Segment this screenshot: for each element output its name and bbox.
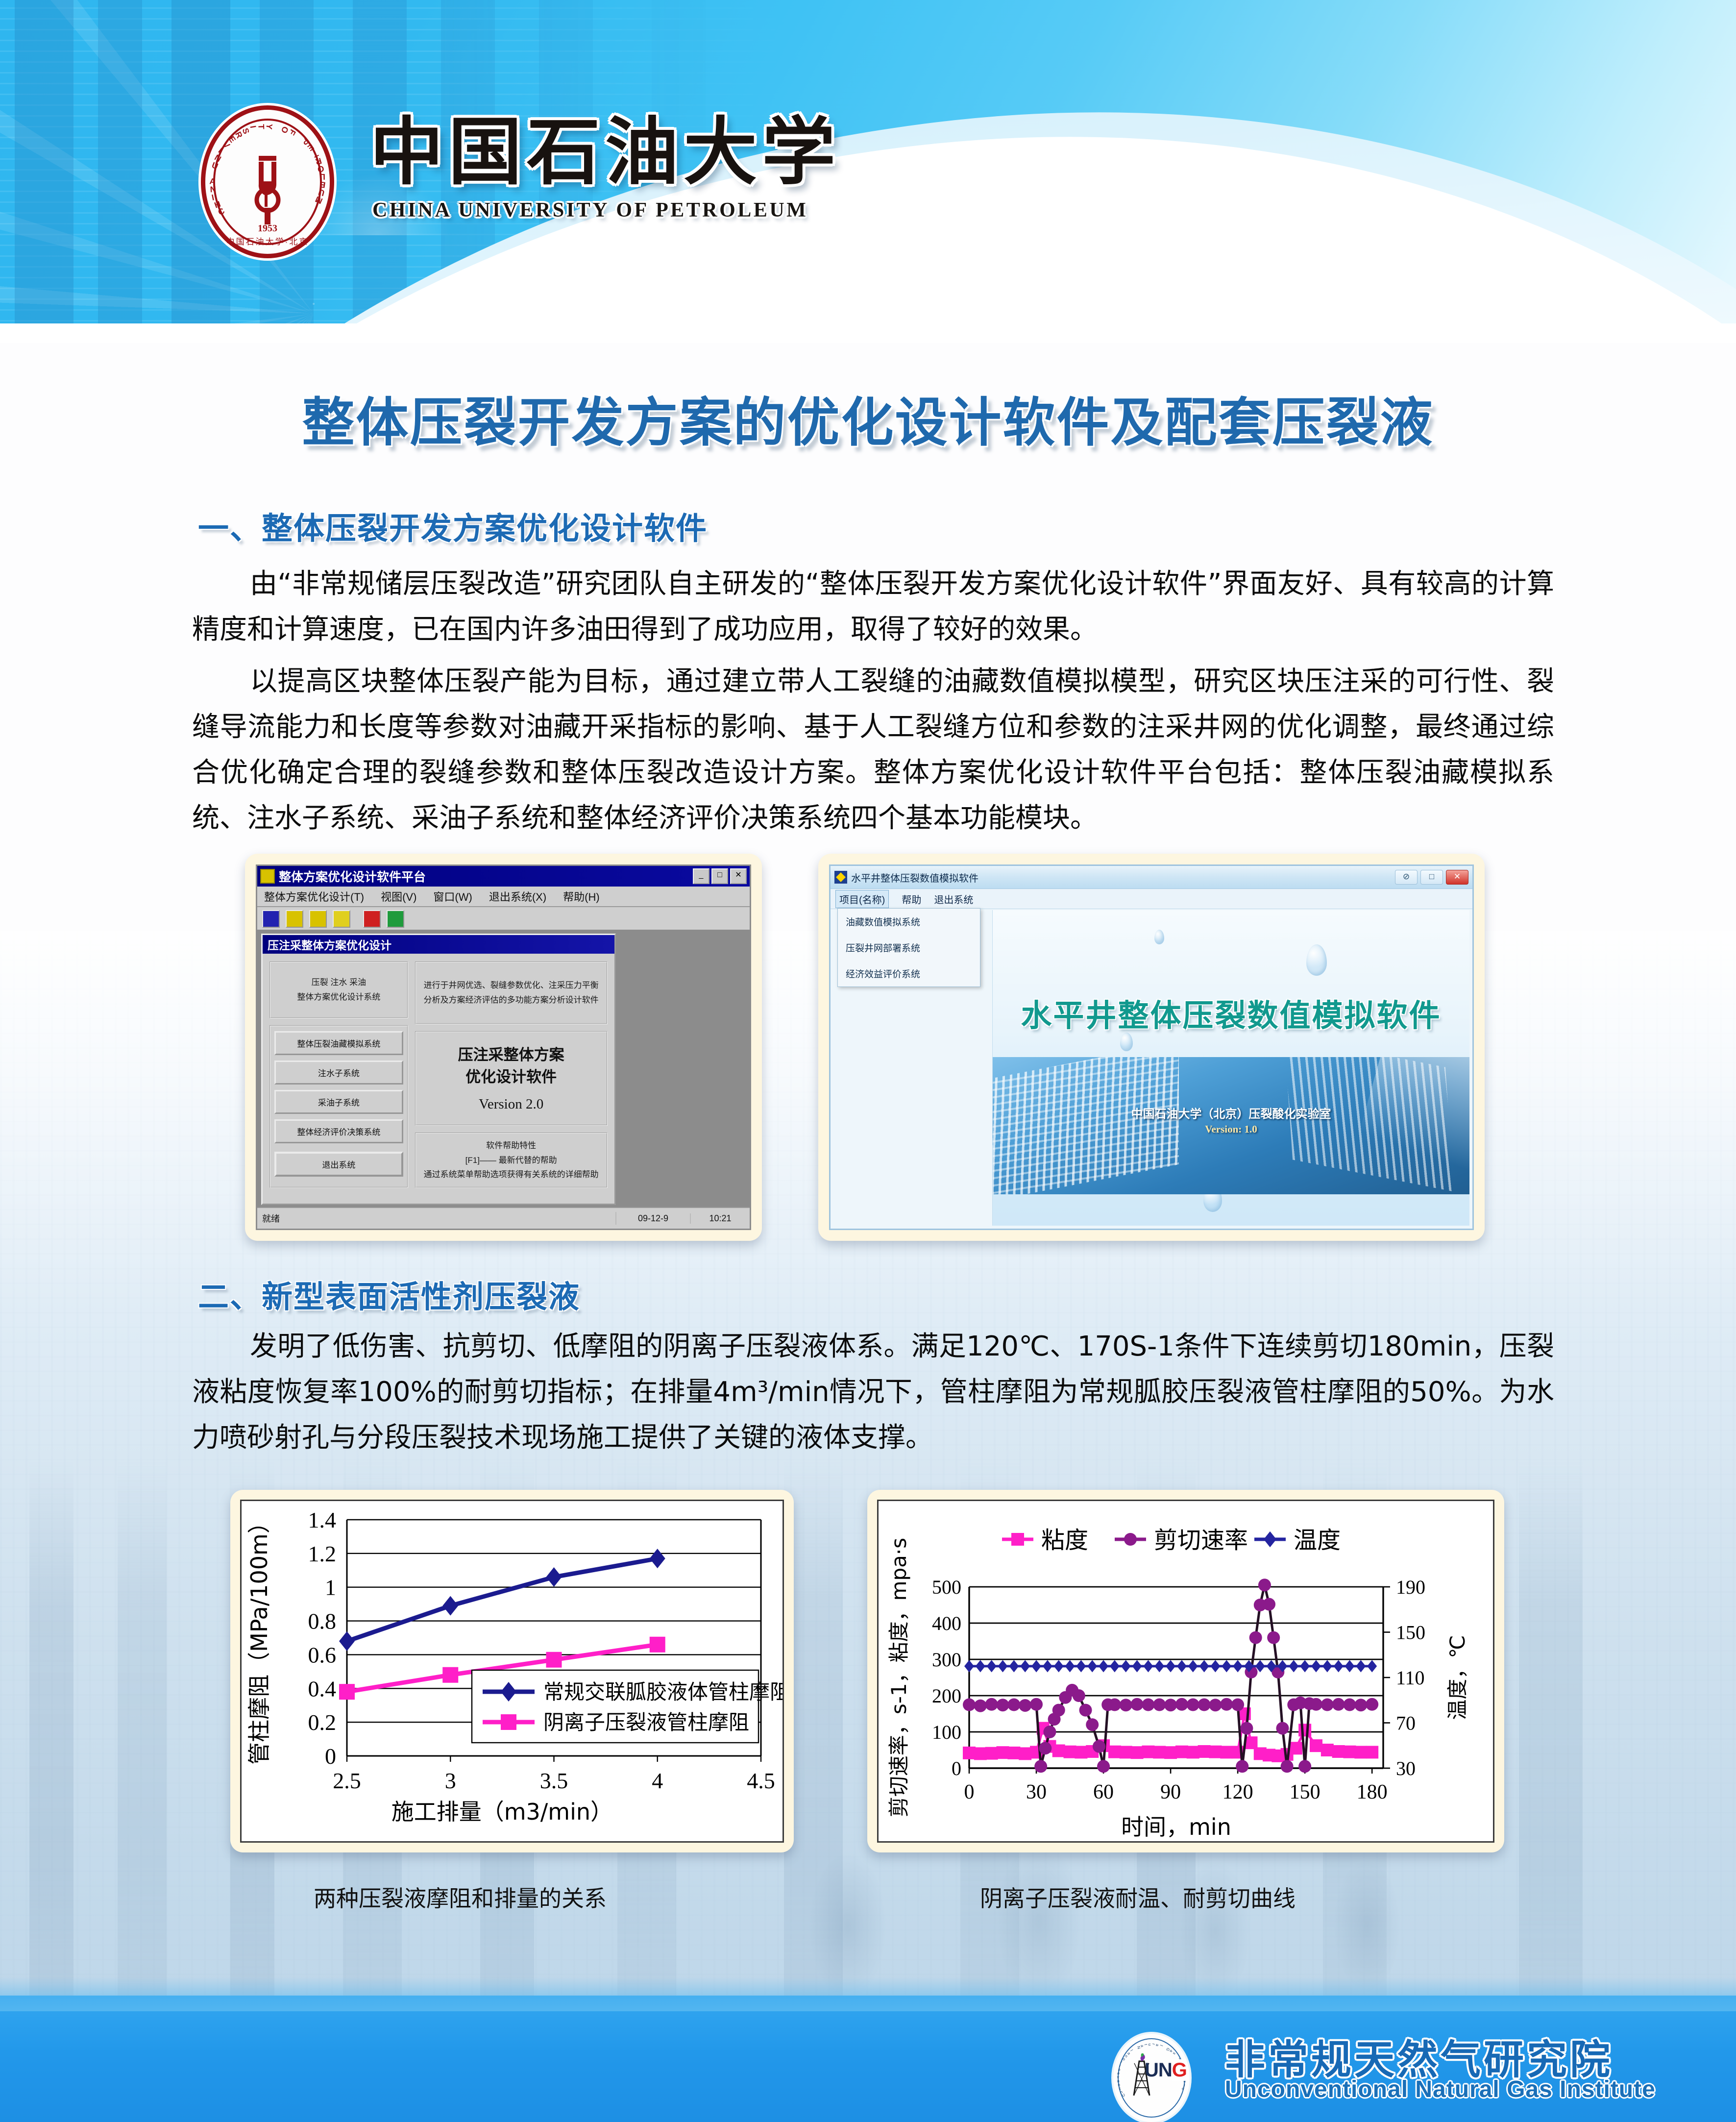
right-info-line2: 分析及方案经济评估的多功能方案分析设计软件	[420, 993, 603, 1008]
screenshot-1-titlebar: 整体方案优化设计软件平台 _ □ ✕	[257, 866, 750, 887]
menu-item-project[interactable]: 项目(名称)	[835, 890, 889, 908]
screenshot-1-window: 整体方案优化设计软件平台 _ □ ✕ 整体方案优化设计(T) 视图(V) 窗口(…	[256, 864, 751, 1230]
chart-2-frame: 粘度剪切速率温度01002003004005003070110150190030…	[867, 1490, 1504, 1852]
header-bottom-fill	[0, 323, 1736, 343]
chart-2-canvas: 粘度剪切速率温度01002003004005003070110150190030…	[877, 1500, 1494, 1843]
module-button-group: 整体压裂油藏模拟系统 注水子系统 采油子系统 整体经济评价决策系统 退出系统	[269, 1025, 408, 1188]
maximize-icon[interactable]: □	[711, 868, 728, 884]
svg-text:施工排量（m3/min）: 施工排量（m3/min）	[391, 1799, 613, 1825]
svg-text:100: 100	[932, 1721, 961, 1743]
header-banner: CHINA UNIVERSITY OF PETROLEUM 1953 中国石油大…	[0, 0, 1736, 343]
screenshot-2-window: 水平井整体压裂数值模拟软件 ⊘ □ ✕ 项目(名称) 帮助 退出系统 油藏数值模…	[829, 864, 1474, 1230]
toolbar-gear-icon[interactable]	[333, 910, 350, 928]
svg-text:3.5: 3.5	[540, 1768, 568, 1793]
svg-text:温度，℃: 温度，℃	[1445, 1635, 1469, 1720]
svg-text:剪切速率，s-1，粘度，mpa·s: 剪切速率，s-1，粘度，mpa·s	[887, 1538, 911, 1817]
button-economic-eval[interactable]: 整体经济评价决策系统	[274, 1119, 403, 1143]
svg-text:1.2: 1.2	[308, 1541, 337, 1566]
help-line-3: 通过系统菜单帮助选项获得有关系统的详细帮助	[420, 1167, 603, 1182]
minimize-icon[interactable]: ⊘	[1395, 870, 1418, 885]
dropdown-item-reservoir-sim[interactable]: 油藏数值模拟系统	[838, 909, 980, 935]
university-name-en: CHINA UNIVERSITY OF PETROLEUM	[372, 198, 808, 222]
crest-emblem-icon	[244, 153, 291, 226]
menu-item-help[interactable]: 帮助	[902, 892, 921, 906]
section-heading-1: 一、整体压裂开发方案优化设计软件	[198, 504, 708, 548]
screenshot-2-title-text: 水平井整体压裂数值模拟软件	[851, 870, 978, 885]
menu-item-view[interactable]: 视图(V)	[381, 888, 416, 904]
screenshot-1-mdi-area: 压注采整体方案优化设计 压裂 注水 采油 整体方案优化设计系统 整体压裂油藏模拟…	[257, 930, 750, 1207]
university-name-cn: 中国石油大学	[370, 115, 840, 189]
footer-top-glow	[0, 1977, 1736, 2011]
chart-2-svg: 粘度剪切速率温度01002003004005003070110150190030…	[879, 1501, 1493, 1841]
right-info-group: 进行于井网优选、裂缝参数优化、注采压力平衡 分析及方案经济评估的多功能方案分析设…	[415, 962, 608, 1024]
svg-text:150: 150	[1396, 1622, 1425, 1644]
right-column: 进行于井网优选、裂缝参数优化、注采压力平衡 分析及方案经济评估的多功能方案分析设…	[415, 962, 608, 1188]
brand-group: 压注采整体方案 优化设计软件 Version 2.0	[415, 1031, 608, 1126]
screenshot-1-title-text: 整体方案优化设计软件平台	[279, 867, 426, 885]
child-window-title: 压注采整体方案优化设计	[263, 935, 614, 954]
svg-text:管柱摩阻（MPa/100m）: 管柱摩阻（MPa/100m）	[246, 1511, 272, 1765]
svg-text:2.5: 2.5	[333, 1768, 361, 1793]
crest-chinese-text: 中国石油大学·北京	[205, 235, 330, 247]
svg-text:300: 300	[932, 1649, 961, 1671]
svg-text:剪切速率: 剪切速率	[1154, 1527, 1248, 1554]
svg-text:110: 110	[1396, 1667, 1425, 1689]
button-exit-system[interactable]: 退出系统	[274, 1152, 403, 1177]
svg-text:4.5: 4.5	[747, 1768, 775, 1793]
menu-item-window[interactable]: 窗口(W)	[433, 888, 472, 904]
brand-line-2: 优化设计软件	[420, 1066, 603, 1088]
chart-2-caption: 阴离子压裂液耐温、耐剪切曲线	[980, 1881, 1296, 1913]
project-dropdown-menu[interactable]: 油藏数值模拟系统 压裂井网部署系统 经济效益评价系统	[837, 908, 980, 987]
svg-text:30: 30	[1026, 1781, 1047, 1803]
child-window-content: 压裂 注水 采油 整体方案优化设计系统 整体压裂油藏模拟系统 注水子系统 采油子…	[263, 954, 614, 1196]
status-date: 09-12-9	[616, 1213, 691, 1224]
screenshot-2-frame: 水平井整体压裂数值模拟软件 ⊘ □ ✕ 项目(名称) 帮助 退出系统 油藏数值模…	[818, 854, 1485, 1241]
toolbar-open-icon[interactable]	[262, 910, 280, 928]
svg-text:70: 70	[1396, 1712, 1416, 1734]
screenshot-1-frame: 整体方案优化设计软件平台 _ □ ✕ 整体方案优化设计(T) 视图(V) 窗口(…	[245, 854, 762, 1241]
dropdown-item-well-pattern[interactable]: 压裂井网部署系统	[838, 935, 980, 961]
svg-text:150: 150	[1290, 1781, 1320, 1803]
close-icon[interactable]: ✕	[1446, 870, 1468, 885]
menu-item-exit[interactable]: 退出系统	[934, 892, 973, 906]
close-icon[interactable]: ✕	[730, 868, 747, 884]
software-version: Version 2.0	[420, 1096, 603, 1112]
left-column: 压裂 注水 采油 整体方案优化设计系统 整体压裂油藏模拟系统 注水子系统 采油子…	[269, 962, 408, 1188]
app-icon	[260, 869, 275, 884]
svg-text:时间，min: 时间，min	[1121, 1814, 1231, 1840]
brand-line-1: 压注采整体方案	[420, 1044, 603, 1066]
screenshot-1-window-controls: _ □ ✕	[693, 868, 747, 884]
water-drop-icon	[1306, 944, 1327, 976]
chart-1-frame: 00.20.40.60.811.21.42.533.544.5施工排量（m3/m…	[230, 1490, 794, 1852]
svg-text:30: 30	[1396, 1757, 1416, 1779]
svg-text:0.2: 0.2	[308, 1710, 337, 1735]
svg-text:500: 500	[932, 1576, 961, 1598]
svg-text:0.6: 0.6	[308, 1642, 337, 1667]
toolbar-info-icon[interactable]	[286, 910, 303, 928]
app-icon	[834, 871, 847, 884]
screenshot-1-statusbar: 就绪 09-12-9 10:21	[257, 1207, 750, 1229]
help-group: 软件帮助特性 [F1]—— 最新代替的帮助 通过系统菜单帮助选项获得有关系统的详…	[415, 1133, 608, 1188]
chart-1-caption: 两种压裂液摩阻和排量的关系	[314, 1881, 607, 1913]
screenshot-1-menubar: 整体方案优化设计(T) 视图(V) 窗口(W) 退出系统(X) 帮助(H)	[257, 887, 750, 907]
water-drop-icon	[1154, 930, 1164, 944]
left-info-group: 压裂 注水 采油 整体方案优化设计系统	[269, 962, 408, 1018]
svg-text:190: 190	[1396, 1576, 1425, 1598]
svg-text:120: 120	[1223, 1781, 1253, 1803]
university-crest: CHINA UNIVERSITY OF PETROLEUM 1953 中国石油大…	[201, 105, 334, 258]
screenshot-1-child-window: 压注采整体方案优化设计 压裂 注水 采油 整体方案优化设计系统 整体压裂油藏模拟…	[261, 934, 616, 1205]
toolbar-book-icon[interactable]	[309, 910, 327, 928]
svg-text:0: 0	[325, 1744, 336, 1769]
ung-logo: Unconventional Natural Gas Institute UNG	[1111, 2032, 1192, 2122]
splash-heading: 水平井整体压裂数值模拟软件	[993, 991, 1469, 1036]
maximize-icon[interactable]: □	[1420, 870, 1443, 885]
toolbar-run-icon[interactable]	[387, 910, 404, 928]
svg-text:400: 400	[932, 1612, 961, 1634]
button-reservoir-sim[interactable]: 整体压裂油藏模拟系统	[274, 1031, 403, 1055]
menu-item-help[interactable]: 帮助(H)	[563, 888, 600, 904]
svg-text:温度: 温度	[1294, 1527, 1341, 1554]
svg-text:180: 180	[1357, 1781, 1388, 1803]
chart-1-canvas: 00.20.40.60.811.21.42.533.544.5施工排量（m3/m…	[240, 1500, 784, 1843]
svg-text:粘度: 粘度	[1041, 1527, 1088, 1554]
toolbar-stop-icon[interactable]	[363, 910, 381, 928]
svg-text:0.4: 0.4	[308, 1676, 337, 1701]
status-time: 10:21	[691, 1213, 750, 1224]
screenshot-2-splash-canvas: 水平井整体压裂数值模拟软件 中国石油大学（北京）压裂酸化实验室 Version:…	[992, 910, 1469, 1226]
svg-text:常规交联胍胶液体管柱摩阻: 常规交联胍胶液体管柱摩阻	[543, 1680, 782, 1704]
right-info-line1: 进行于井网优选、裂缝参数优化、注采压力平衡	[420, 978, 603, 993]
institute-name-en: Unconventional Natural Gas Institute	[1225, 2076, 1656, 2103]
svg-text:0.8: 0.8	[308, 1609, 337, 1634]
screenshot-2-window-controls: ⊘ □ ✕	[1395, 870, 1468, 885]
chart-1-svg: 00.20.40.60.811.21.42.533.544.5施工排量（m3/m…	[242, 1501, 782, 1841]
left-info-line1: 压裂 注水 采油	[274, 975, 403, 990]
svg-text:1.4: 1.4	[308, 1507, 337, 1532]
svg-text:4: 4	[652, 1768, 663, 1793]
svg-text:0: 0	[964, 1781, 975, 1803]
svg-text:60: 60	[1093, 1781, 1114, 1803]
button-oil-production[interactable]: 采油子系统	[274, 1090, 403, 1114]
photo-caption: 中国石油大学（北京）压裂酸化实验室	[993, 1104, 1469, 1121]
dropdown-item-economic-eval[interactable]: 经济效益评价系统	[838, 961, 980, 987]
svg-text:200: 200	[932, 1685, 961, 1707]
screenshot-2-titlebar: 水平井整体压裂数值模拟软件 ⊘ □ ✕	[831, 866, 1472, 889]
poster-root: CHINA UNIVERSITY OF PETROLEUM 1953 中国石油大…	[0, 0, 1736, 2122]
button-waterflood[interactable]: 注水子系统	[274, 1061, 403, 1085]
svg-text:90: 90	[1160, 1781, 1181, 1803]
svg-text:阴离子压裂液管柱摩阻: 阴离子压裂液管柱摩阻	[543, 1710, 749, 1734]
screenshot-1-toolbar	[257, 907, 750, 932]
status-ready: 就绪	[257, 1212, 616, 1225]
ung-wordmark: UNG	[1145, 2059, 1187, 2081]
screenshot-2-menubar: 项目(名称) 帮助 退出系统	[831, 889, 1472, 909]
section-2-paragraph-1: 发明了低伤害、抗剪切、低摩阻的阴离子压裂液体系。满足120℃、170S-1条件下…	[192, 1324, 1554, 1461]
left-info-line2: 整体方案优化设计系统	[274, 990, 403, 1005]
section-heading-2: 二、新型表面活性剂压裂液	[198, 1272, 580, 1317]
photo-version: Version: 1.0	[993, 1123, 1469, 1135]
section-1-paragraph-2: 以提高区块整体压裂产能为目标，通过建立带人工裂缝的油藏数值模拟模型，研究区块压注…	[192, 659, 1554, 841]
poster-title: 整体压裂开发方案的优化设计软件及配套压裂液	[0, 380, 1736, 456]
svg-text:3: 3	[445, 1768, 456, 1793]
svg-text:1: 1	[325, 1575, 336, 1600]
help-line-1: 软件帮助特性	[420, 1138, 603, 1153]
svg-text:0: 0	[952, 1757, 961, 1779]
section-1-paragraph-1: 由“非常规储层压裂改造”研究团队自主研发的“整体压裂开发方案优化设计软件”界面友…	[192, 562, 1554, 653]
menu-item-design[interactable]: 整体方案优化设计(T)	[264, 888, 364, 904]
crest-year: 1953	[205, 223, 330, 234]
lab-building-photo: 中国石油大学（北京）压裂酸化实验室 Version: 1.0	[993, 1057, 1469, 1194]
menu-item-exit[interactable]: 退出系统(X)	[489, 888, 546, 904]
minimize-icon[interactable]: _	[693, 868, 709, 884]
help-line-2: [F1]—— 最新代替的帮助	[420, 1153, 603, 1168]
